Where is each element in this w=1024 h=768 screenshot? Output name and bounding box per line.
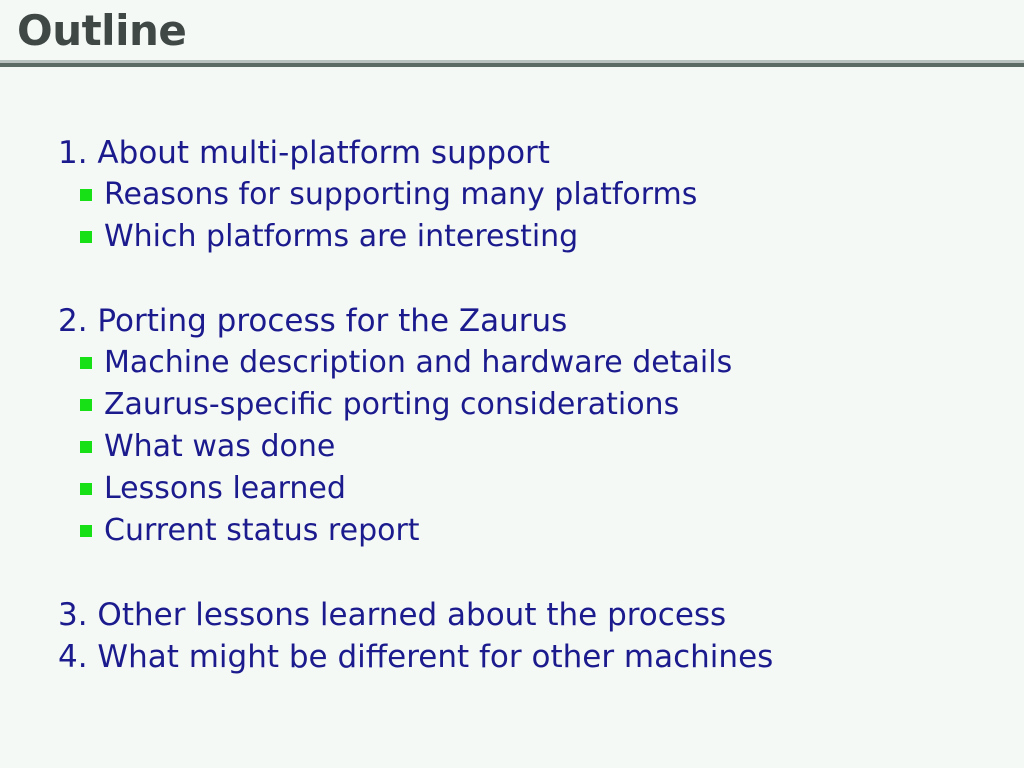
outline-section-2: 2. Porting process for the Zaurus Machin…: [0, 300, 1024, 552]
list-item: Which platforms are interesting: [104, 216, 1024, 258]
outline-section-1: 1. About multi-platform support Reasons …: [0, 132, 1024, 258]
outline-body: 1. About multi-platform support Reasons …: [0, 132, 1024, 678]
sub-list-1: Reasons for supporting many platforms Wh…: [0, 174, 1024, 258]
list-item: Reasons for supporting many platforms: [104, 174, 1024, 216]
list-item: Current status report: [104, 510, 1024, 552]
list-item: Zaurus-specific porting considerations: [104, 384, 1024, 426]
title-divider: [0, 60, 1024, 67]
list-item-label: Which platforms are interesting: [104, 219, 578, 254]
square-bullet-icon: [80, 189, 92, 201]
list-item: Lessons learned: [104, 468, 1024, 510]
sub-list-2: Machine description and hardware details…: [0, 342, 1024, 552]
page-title: Outline: [17, 6, 186, 56]
slide-canvas: Outline 1. About multi-platform support …: [0, 0, 1024, 768]
square-bullet-icon: [80, 399, 92, 411]
list-item: What was done: [104, 426, 1024, 468]
square-bullet-icon: [80, 357, 92, 369]
square-bullet-icon: [80, 231, 92, 243]
square-bullet-icon: [80, 483, 92, 495]
list-item-label: Current status report: [104, 513, 420, 548]
list-item: Machine description and hardware details: [104, 342, 1024, 384]
list-item-label: Lessons learned: [104, 471, 346, 506]
section-heading-4: 4. What might be different for other mac…: [58, 636, 1024, 678]
outline-section-3: 3. Other lessons learned about the proce…: [0, 594, 1024, 678]
list-item-label: What was done: [104, 429, 335, 464]
square-bullet-icon: [80, 441, 92, 453]
section-heading-3: 3. Other lessons learned about the proce…: [58, 594, 1024, 636]
list-item-label: Reasons for supporting many platforms: [104, 177, 697, 212]
section-heading-1: 1. About multi-platform support: [58, 132, 1024, 174]
list-item-label: Machine description and hardware details: [104, 345, 732, 380]
list-item-label: Zaurus-specific porting considerations: [104, 387, 679, 422]
section-heading-2: 2. Porting process for the Zaurus: [58, 300, 1024, 342]
divider-dark-band: [0, 63, 1024, 67]
slide-header: Outline: [0, 0, 1024, 72]
square-bullet-icon: [80, 525, 92, 537]
